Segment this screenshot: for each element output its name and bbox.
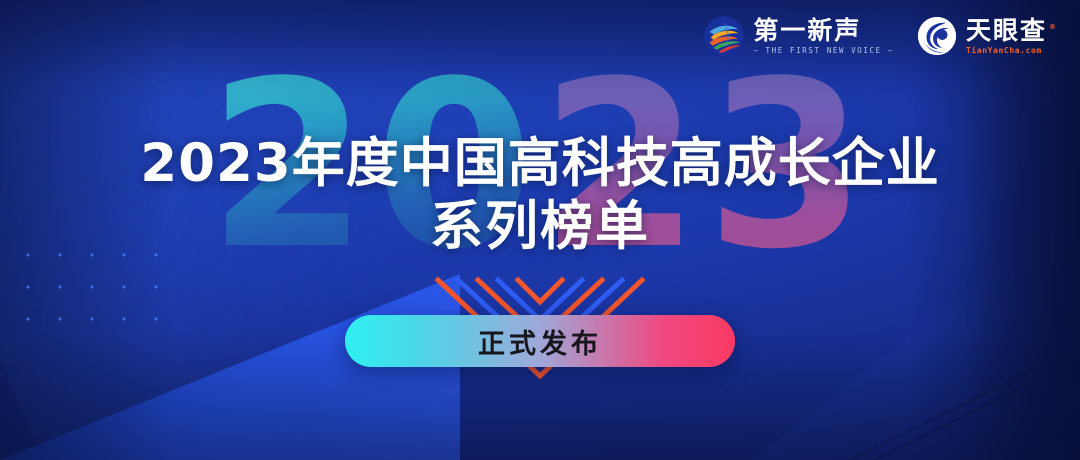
logo-diyixinsheng-name: 第一新声 <box>753 18 894 43</box>
publish-cta-button[interactable]: 正式发布 <box>345 315 735 367</box>
logo-diyixinsheng-text: 第一新声 — THE FIRST NEW VOICE — <box>753 18 894 55</box>
promo-banner: 2023 <box>0 0 1080 460</box>
logo-diyixinsheng-tagline: — THE FIRST NEW VOICE — <box>753 47 894 55</box>
headline-line-1: 2023年度中国高科技高成长企业 <box>0 132 1080 196</box>
trademark-mark: ® <box>1049 23 1058 31</box>
logo-tianyancha-name: 天眼查® <box>966 18 1058 43</box>
logo-bar: 第一新声 — THE FIRST NEW VOICE — 天眼查® TianYa… <box>703 12 1058 60</box>
logo-diyixinsheng[interactable]: 第一新声 — THE FIRST NEW VOICE — <box>703 15 894 57</box>
headline-line-2: 系列榜单 <box>0 196 1080 258</box>
logo-tianyancha-text: 天眼查® TianYanCha.com <box>966 18 1058 55</box>
swirl-logo-icon <box>703 15 745 57</box>
logo-tianyancha-tagline: TianYanCha.com <box>966 47 1058 55</box>
publish-cta-label: 正式发布 <box>478 322 602 361</box>
eye-lens-logo-icon <box>916 15 958 57</box>
page-title: 2023年度中国高科技高成长企业 系列榜单 <box>0 132 1080 258</box>
logo-tianyancha[interactable]: 天眼查® TianYanCha.com <box>916 15 1058 57</box>
logo-tianyancha-name-label: 天眼查 <box>966 16 1047 45</box>
